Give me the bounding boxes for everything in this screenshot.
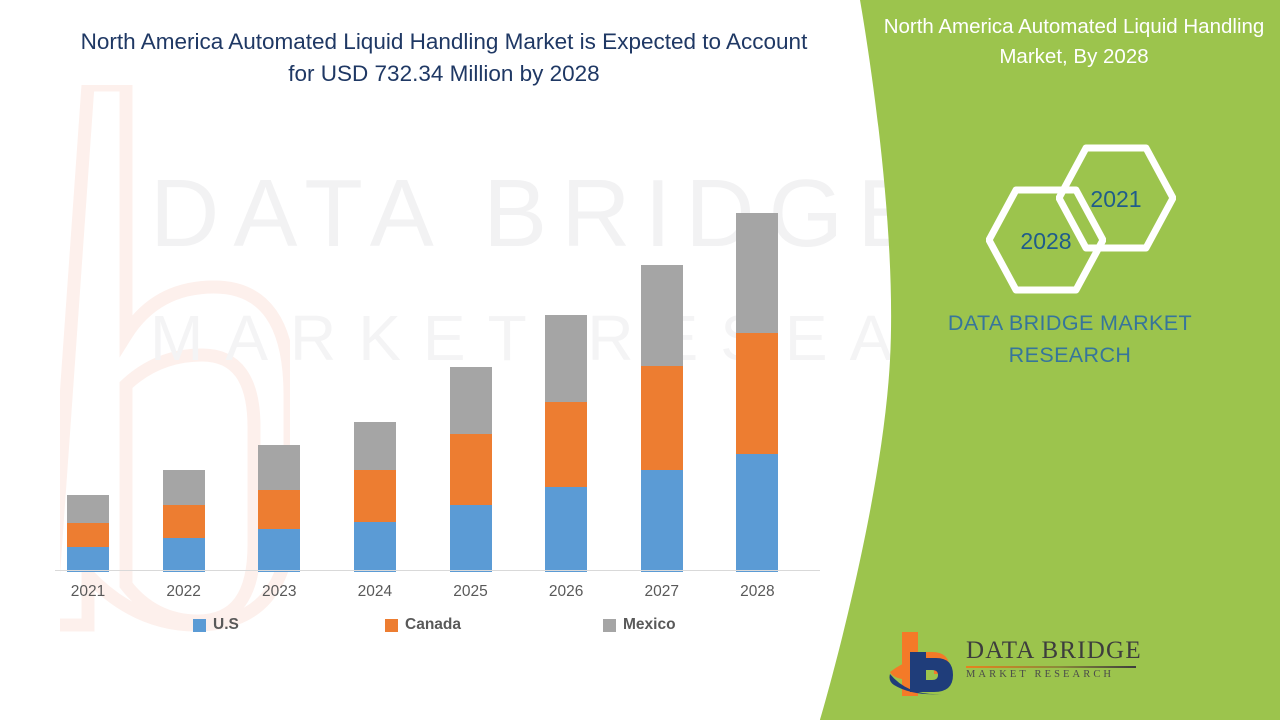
bar-group-2026 xyxy=(545,315,587,572)
green-panel-content: North America Automated Liquid Handling … xyxy=(860,0,1280,720)
hexagon-badges: 2021 2028 xyxy=(978,138,1198,288)
bar-segment-US-2024 xyxy=(354,522,396,572)
bar-segment-Canada-2023 xyxy=(258,490,300,529)
x-axis-label-2023: 2023 xyxy=(239,583,319,601)
bar-segment-Canada-2028 xyxy=(736,333,778,454)
x-axis-label-2022: 2022 xyxy=(144,583,224,601)
bar-group-2028 xyxy=(736,213,778,572)
bar-segment-Canada-2021 xyxy=(67,523,109,547)
bar-group-2025 xyxy=(450,367,492,572)
bar-segment-US-2023 xyxy=(258,529,300,572)
bar-segment-Mexico-2021 xyxy=(67,495,109,523)
bar-segment-Mexico-2024 xyxy=(354,422,396,470)
data-bridge-logo: DATA BRIDGE MARKET RESEARCH xyxy=(888,628,1148,700)
legend-item-Canada[interactable]: Canada xyxy=(385,616,461,634)
x-axis-label-2025: 2025 xyxy=(431,583,511,601)
bar-segment-Canada-2025 xyxy=(450,434,492,505)
bar-segment-Mexico-2022 xyxy=(163,470,205,505)
x-axis-label-2021: 2021 xyxy=(48,583,128,601)
legend-swatch-icon xyxy=(385,619,398,632)
x-axis-label-2024: 2024 xyxy=(335,583,415,601)
bar-segment-US-2022 xyxy=(163,538,205,572)
infographic-root: DATA BRIDGE MARKET RESEARCH North Americ… xyxy=(0,0,1280,720)
b-logo-icon xyxy=(888,628,964,696)
panel-title: North America Automated Liquid Handling … xyxy=(880,12,1268,71)
bar-segment-Canada-2026 xyxy=(545,402,587,487)
bar-group-2027 xyxy=(641,265,683,572)
bar-segment-US-2028 xyxy=(736,454,778,572)
bar-segment-US-2027 xyxy=(641,470,683,572)
bar-segment-US-2025 xyxy=(450,505,492,572)
chart-legend: U.SCanadaMexico xyxy=(55,616,820,642)
bar-segment-Mexico-2025 xyxy=(450,367,492,434)
bar-segment-Canada-2024 xyxy=(354,470,396,522)
hexagon-2028-label: 2028 xyxy=(986,228,1106,255)
legend-label: U.S xyxy=(213,616,239,634)
bar-segment-US-2026 xyxy=(545,487,587,572)
logo-secondary-text: MARKET RESEARCH xyxy=(966,670,1146,681)
bar-group-2024 xyxy=(354,422,396,572)
legend-swatch-icon xyxy=(193,619,206,632)
legend-label: Mexico xyxy=(623,616,676,634)
legend-item-US[interactable]: U.S xyxy=(193,616,239,634)
x-axis-label-2027: 2027 xyxy=(622,583,702,601)
logo-divider xyxy=(966,666,1136,668)
bar-segment-Mexico-2028 xyxy=(736,213,778,333)
legend-label: Canada xyxy=(405,616,461,634)
bar-group-2021 xyxy=(67,495,109,572)
bar-segment-Canada-2022 xyxy=(163,505,205,538)
bar-segment-US-2021 xyxy=(67,547,109,572)
bar-segment-Mexico-2027 xyxy=(641,265,683,366)
legend-swatch-icon xyxy=(603,619,616,632)
legend-item-Mexico[interactable]: Mexico xyxy=(603,616,676,634)
bar-group-2023 xyxy=(258,445,300,572)
x-axis-label-2028: 2028 xyxy=(717,583,797,601)
logo-primary-text: DATA BRIDGE xyxy=(966,638,1146,663)
bar-segment-Mexico-2026 xyxy=(545,315,587,402)
panel-brand-text: DATA BRIDGE MARKET RESEARCH xyxy=(890,308,1250,372)
x-axis-labels: 20212022202320242025202620272028 xyxy=(55,583,820,609)
chart-plot-area xyxy=(55,100,820,572)
bar-segment-Mexico-2023 xyxy=(258,445,300,490)
x-axis-line xyxy=(55,570,820,571)
bar-segment-Canada-2027 xyxy=(641,366,683,470)
chart-title: North America Automated Liquid Handling … xyxy=(72,26,816,90)
logo-wordmark: DATA BRIDGE MARKET RESEARCH xyxy=(966,638,1146,680)
bar-group-2022 xyxy=(163,470,205,572)
x-axis-label-2026: 2026 xyxy=(526,583,606,601)
